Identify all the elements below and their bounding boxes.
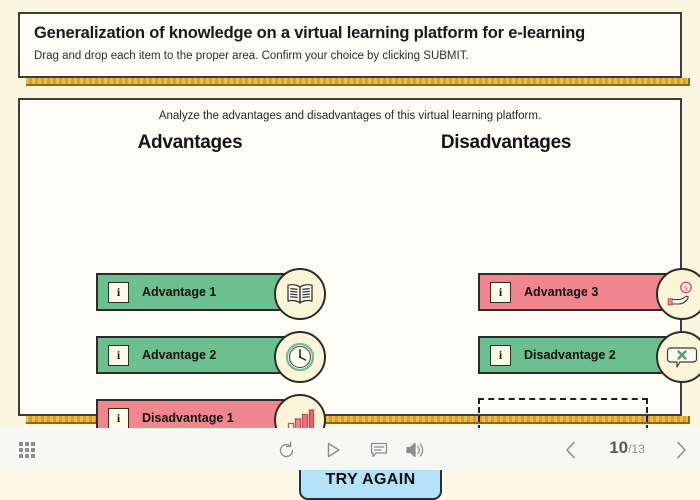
slide-stage: Generalization of knowledge on a virtual… bbox=[0, 0, 700, 470]
instruction-text: Analyze the advantages and disadvantages… bbox=[20, 110, 680, 122]
page-title: Generalization of knowledge on a virtual… bbox=[34, 24, 585, 43]
item-label: Disadvantage 1 bbox=[142, 411, 234, 425]
page-current: 10 bbox=[609, 438, 628, 457]
column-heading-disadvantages: Disadvantages bbox=[356, 132, 656, 154]
bottom-toolbar: 10/13 bbox=[0, 428, 700, 470]
book-icon bbox=[274, 268, 326, 320]
header-panel-shadow bbox=[26, 78, 690, 86]
draggable-item-advantage-1[interactable]: i Advantage 1 bbox=[96, 273, 296, 311]
hand-coin-icon: $ bbox=[656, 268, 700, 320]
page-total: /13 bbox=[628, 442, 645, 456]
notes-icon[interactable] bbox=[368, 439, 390, 461]
item-label: Advantage 3 bbox=[524, 285, 598, 299]
info-icon[interactable]: i bbox=[108, 345, 129, 366]
item-label: Advantage 2 bbox=[142, 348, 216, 362]
info-icon[interactable]: i bbox=[108, 282, 129, 303]
clock-icon bbox=[274, 331, 326, 383]
grid-icon[interactable] bbox=[16, 439, 38, 461]
header-panel: Generalization of knowledge on a virtual… bbox=[18, 12, 682, 78]
item-label: Disadvantage 2 bbox=[524, 348, 616, 362]
replay-icon[interactable] bbox=[275, 439, 297, 461]
main-panel: Analyze the advantages and disadvantages… bbox=[18, 98, 682, 416]
svg-text:$: $ bbox=[684, 285, 688, 293]
next-page-button[interactable] bbox=[670, 439, 692, 461]
info-icon[interactable]: i bbox=[490, 282, 511, 303]
page-indicator: 10/13 bbox=[592, 438, 662, 458]
column-heading-advantages: Advantages bbox=[40, 132, 340, 154]
info-icon[interactable]: i bbox=[108, 408, 129, 429]
draggable-item-advantage-3[interactable]: i Advantage 3 $ bbox=[478, 273, 678, 311]
volume-icon[interactable] bbox=[403, 439, 425, 461]
draggable-item-disadvantage-2[interactable]: i Disadvantage 2 bbox=[478, 336, 678, 374]
play-icon[interactable] bbox=[322, 439, 344, 461]
speech-bubble-x-icon bbox=[656, 331, 700, 383]
page-subtitle: Drag and drop each item to the proper ar… bbox=[34, 50, 469, 62]
item-label: Advantage 1 bbox=[142, 285, 216, 299]
prev-page-button[interactable] bbox=[560, 439, 582, 461]
draggable-item-advantage-2[interactable]: i Advantage 2 bbox=[96, 336, 296, 374]
info-icon[interactable]: i bbox=[490, 345, 511, 366]
